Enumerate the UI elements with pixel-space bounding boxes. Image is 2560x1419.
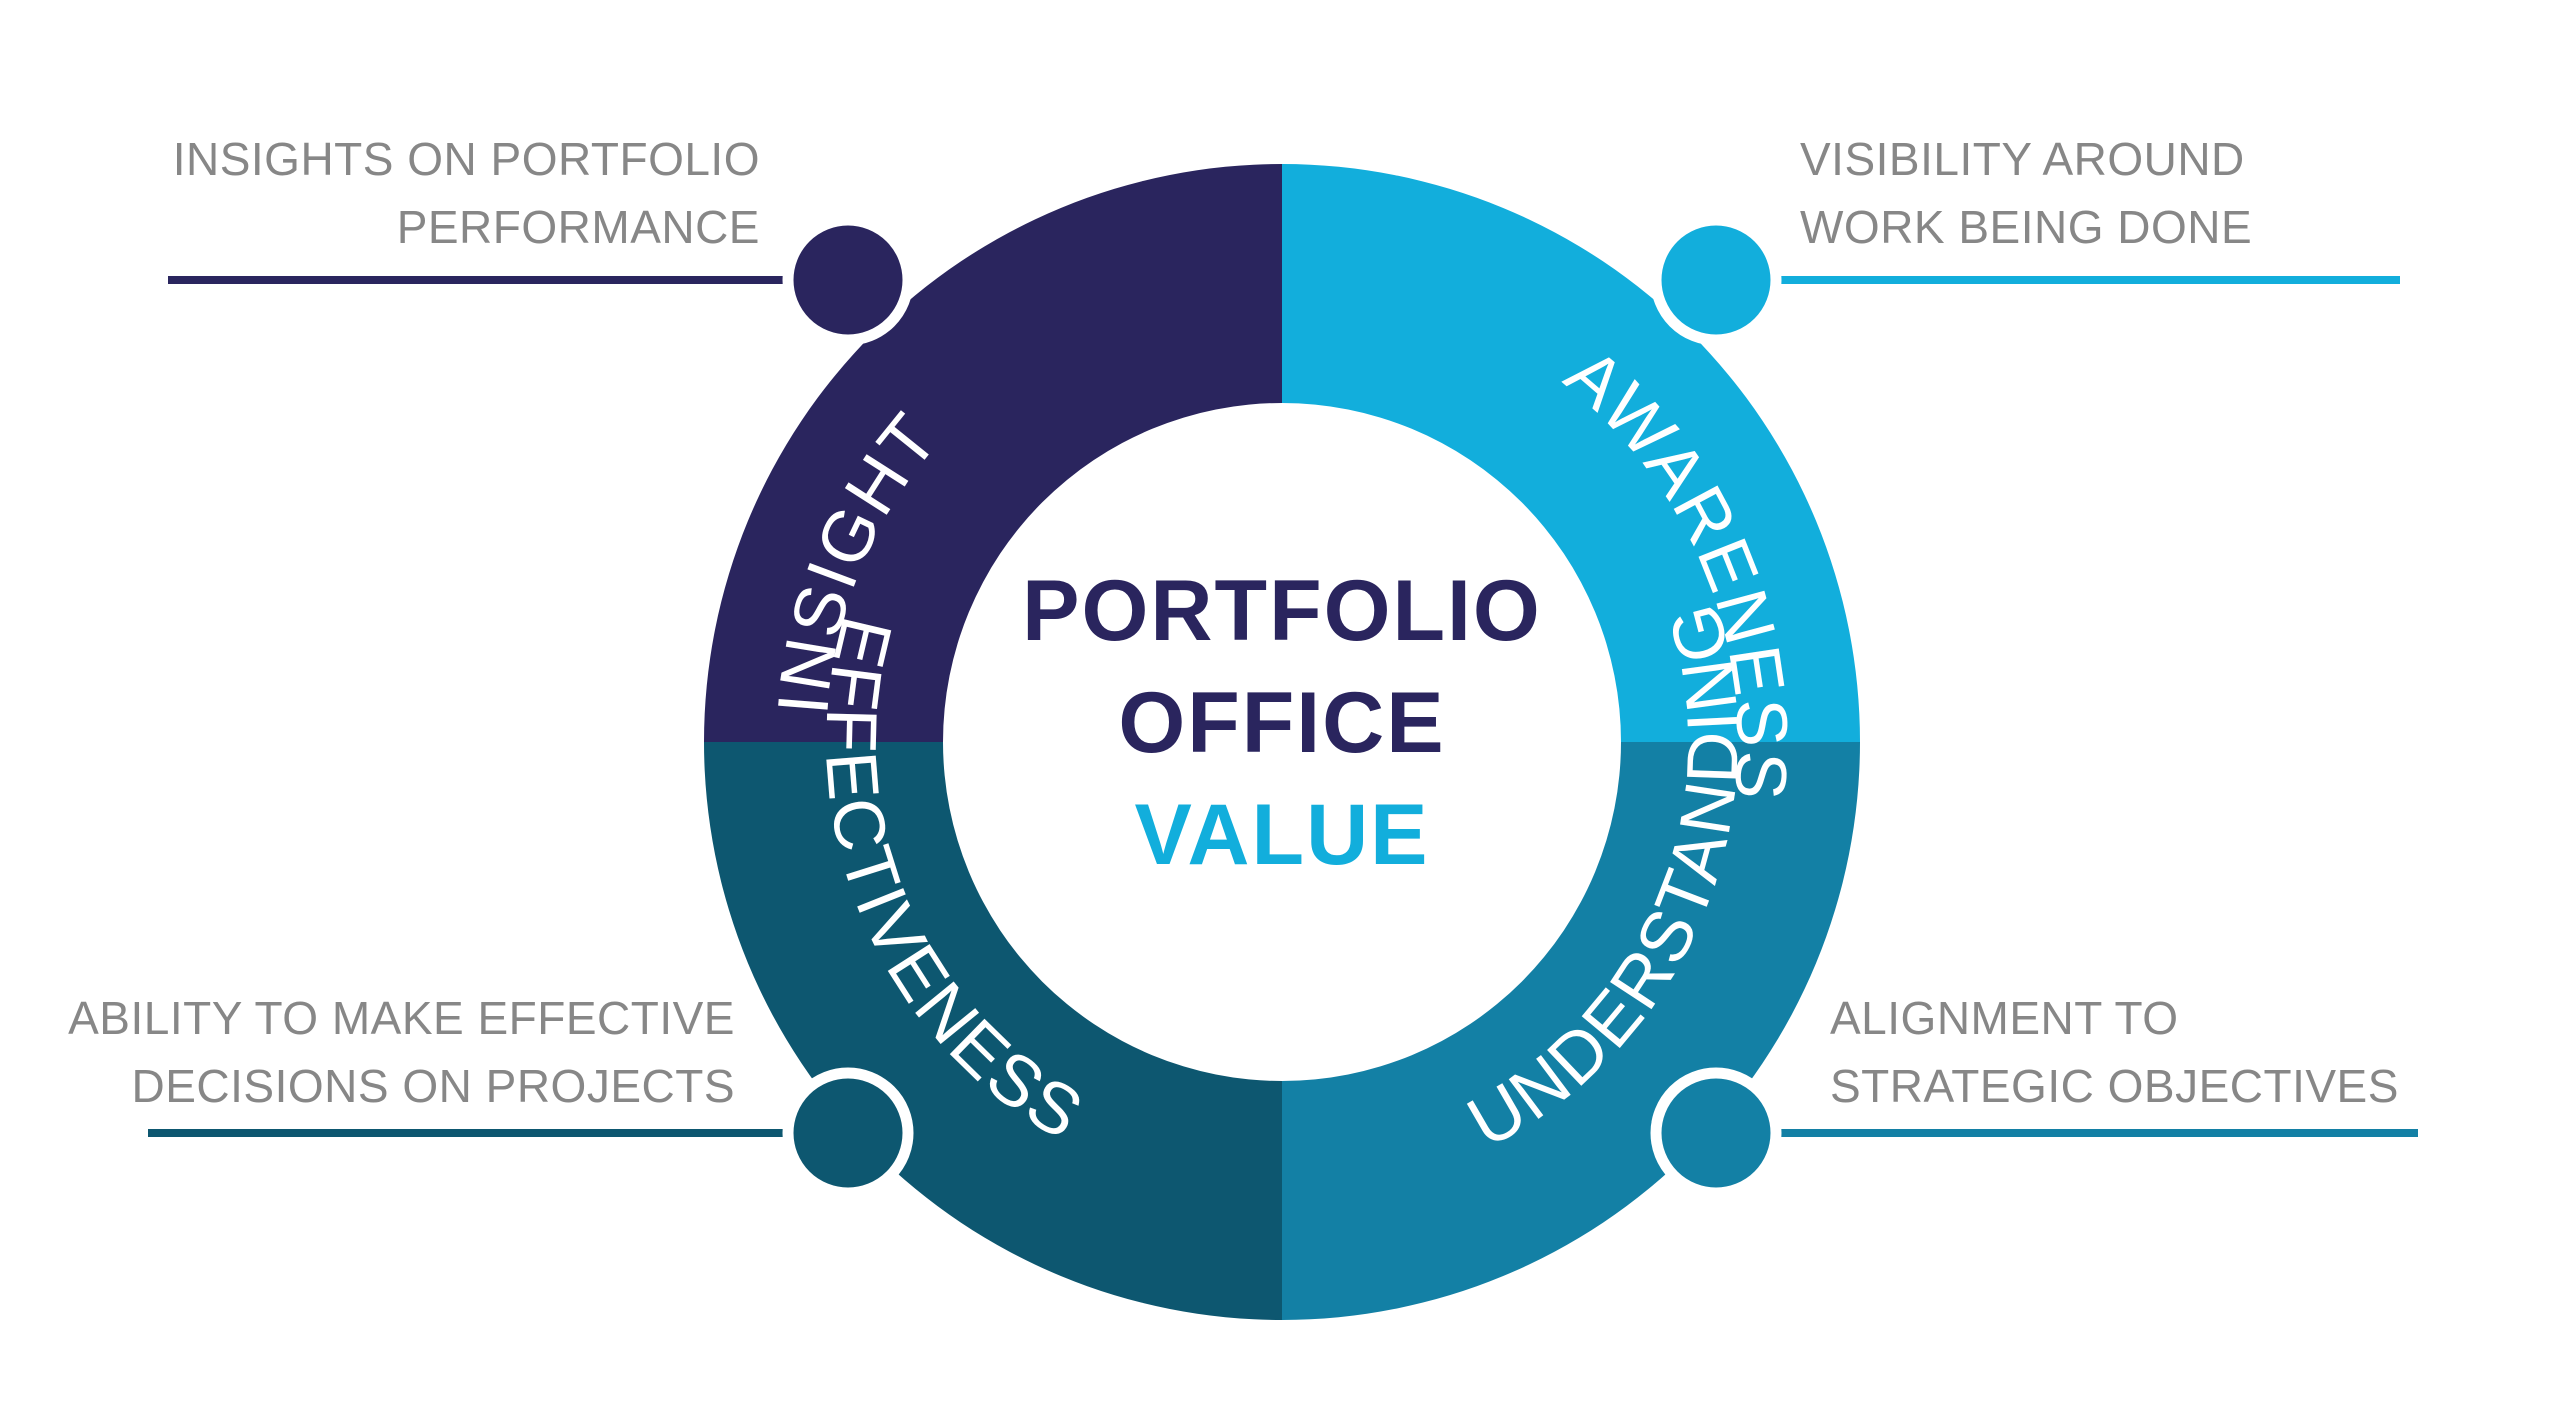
callout-understanding-line-1: ALIGNMENT TO: [1830, 992, 2179, 1044]
callout-effectiveness: ABILITY TO MAKE EFFECTIVE DECISIONS ON P…: [68, 992, 735, 1112]
center-title-line-2: OFFICE: [1118, 675, 1445, 771]
callout-awareness: VISIBILITY AROUND WORK BEING DONE: [1800, 133, 2252, 253]
callout-effectiveness-line-1: ABILITY TO MAKE EFFECTIVE: [68, 992, 735, 1044]
callout-insight-line-1: INSIGHTS ON PORTFOLIO: [173, 133, 760, 185]
callout-awareness-line-2: WORK BEING DONE: [1800, 201, 2252, 253]
marker-dot-effectiveness[interactable]: [788, 1073, 908, 1193]
marker-dot-understanding[interactable]: [1656, 1073, 1776, 1193]
callout-effectiveness-line-2: DECISIONS ON PROJECTS: [132, 1060, 735, 1112]
callout-awareness-line-1: VISIBILITY AROUND: [1800, 133, 2245, 185]
callout-understanding-line-2: STRATEGIC OBJECTIVES: [1830, 1060, 2399, 1112]
center-text-block: PORTFOLIO OFFICE VALUE: [1022, 563, 1542, 883]
callout-insight: INSIGHTS ON PORTFOLIO PERFORMANCE: [173, 133, 760, 253]
callout-understanding: ALIGNMENT TO STRATEGIC OBJECTIVES: [1830, 992, 2399, 1112]
portfolio-office-value-donut-diagram: INSIGHT AWARENESS EFFECTIVENESS UNDERSTA…: [0, 0, 2560, 1419]
marker-dot-insight[interactable]: [788, 220, 908, 340]
diagram-canvas: INSIGHT AWARENESS EFFECTIVENESS UNDERSTA…: [0, 0, 2560, 1419]
center-title-line-3: VALUE: [1134, 787, 1429, 883]
center-title-line-1: PORTFOLIO: [1022, 563, 1542, 659]
marker-dot-awareness[interactable]: [1656, 220, 1776, 340]
callout-insight-line-2: PERFORMANCE: [397, 201, 760, 253]
